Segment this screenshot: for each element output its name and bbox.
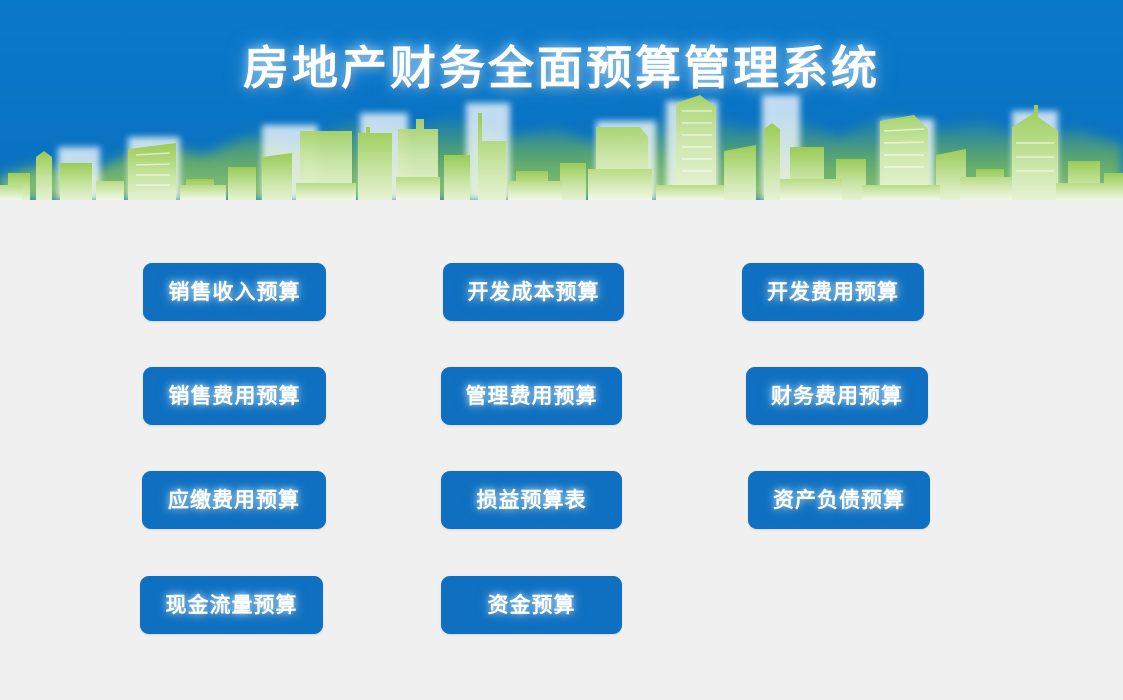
module-button-sales-revenue-budget[interactable]: 销售收入预算 bbox=[143, 263, 326, 321]
module-button-profit-loss-budget-sheet[interactable]: 损益预算表 bbox=[441, 471, 622, 529]
module-button-development-expense-budget[interactable]: 开发费用预算 bbox=[742, 263, 924, 321]
module-button-cash-flow-budget[interactable]: 现金流量预算 bbox=[140, 576, 323, 634]
module-row-3: 应缴费用预算 损益预算表 资产负债预算 bbox=[0, 471, 1123, 529]
module-button-development-cost-budget[interactable]: 开发成本预算 bbox=[443, 263, 624, 321]
module-row-1: 销售收入预算 开发成本预算 开发费用预算 bbox=[0, 263, 1123, 321]
header-banner: 房地产财务全面预算管理系统 bbox=[0, 0, 1123, 200]
module-button-administrative-expense-budget[interactable]: 管理费用预算 bbox=[441, 367, 622, 425]
module-button-funds-budget[interactable]: 资金预算 bbox=[441, 576, 622, 634]
module-row-2: 销售费用预算 管理费用预算 财务费用预算 bbox=[0, 367, 1123, 425]
budget-module-grid: 销售收入预算 开发成本预算 开发费用预算 销售费用预算 管理费用预算 财务费用预… bbox=[0, 200, 1123, 700]
module-row-4: 现金流量预算 资金预算 bbox=[0, 576, 1123, 634]
module-button-financial-expense-budget[interactable]: 财务费用预算 bbox=[746, 367, 928, 425]
city-skyline-graphic bbox=[0, 85, 1123, 200]
module-button-balance-sheet-budget[interactable]: 资产负债预算 bbox=[748, 471, 930, 529]
module-button-sales-expense-budget[interactable]: 销售费用预算 bbox=[143, 367, 326, 425]
module-button-payable-expense-budget[interactable]: 应缴费用预算 bbox=[142, 471, 326, 529]
